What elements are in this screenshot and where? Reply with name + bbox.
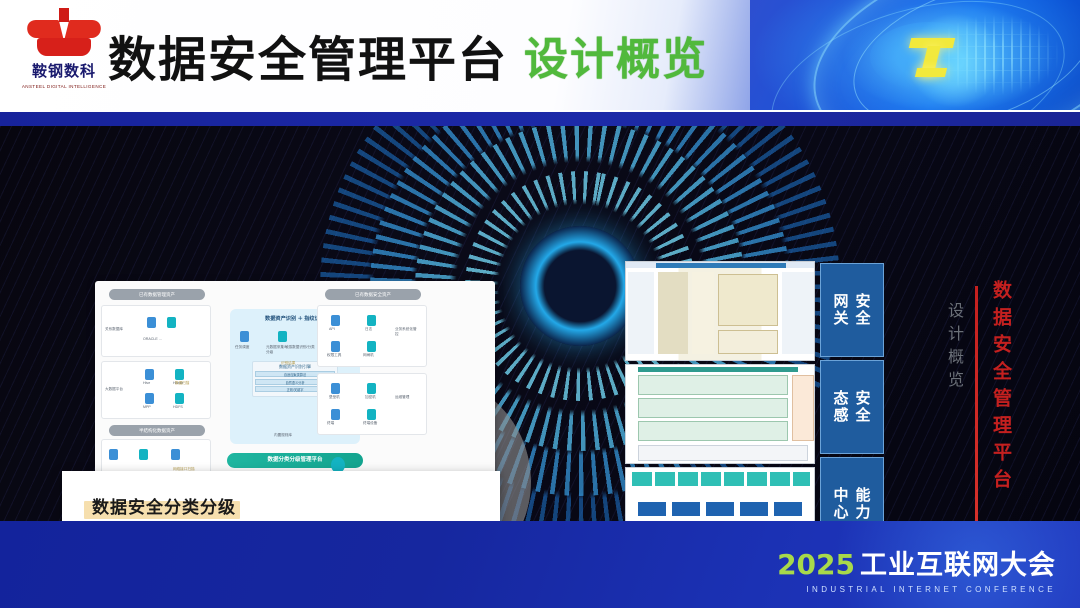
logo-name-cn: 鞍钢数科 <box>14 60 114 81</box>
logo-name-en: ANSTEEL DIGITAL INTELLIGENCE <box>18 84 110 90</box>
category-label-col-right: 能力 <box>853 487 874 521</box>
thumbnail-security-capability-map[interactable] <box>625 364 815 464</box>
diagram-source-2-label: 大数据平台 <box>105 387 123 392</box>
conference-name-cn: 工业互联网大会 <box>860 543 1056 582</box>
page-title: 数据安全管理平台 设计概览 <box>108 18 708 92</box>
red-vertical-rule <box>975 286 978 521</box>
thumbnail-architecture-overview[interactable] <box>625 261 815 361</box>
diagram-source-2-item-a: Hive <box>143 381 150 385</box>
diagram-source-1-items: ORACLE … <box>143 337 162 341</box>
diagram-right-item: 终端设备 <box>363 421 377 426</box>
category-label-col-right: 安全 <box>853 390 874 424</box>
category-situational-awareness[interactable]: 安全 态感 <box>820 360 884 454</box>
diagram-source-2-item-c: MPP <box>143 405 151 409</box>
diagram-right-item: 日志 <box>365 327 372 332</box>
diagram-right-top-caption: 业务系统化管控 <box>395 327 419 337</box>
diagram-source-2-item-d: HDFS <box>173 405 183 409</box>
description-heading: 数据安全分类分级 <box>92 493 236 518</box>
conference-year: 2025 <box>777 548 855 581</box>
header-t-logo-icon <box>908 38 956 76</box>
diagram-core-step-1: 任务调度 <box>235 345 249 350</box>
header-glow-blob <box>870 22 990 92</box>
diagram-right-item: 网闸机 <box>363 353 374 358</box>
anvil-icon <box>25 8 103 58</box>
slide-footer: 2025 工业互联网大会 INDUSTRIAL INTERNET CONFERE… <box>0 521 1080 608</box>
diagram-link-right: 识别结果 <box>281 361 295 366</box>
diagram-right-item: 加密机 <box>365 395 376 400</box>
diagram-source-3-label: 半结构化数据资产 <box>109 425 205 436</box>
diagram-right-item: 堡垒机 <box>329 395 340 400</box>
thumbnail-column <box>625 261 815 521</box>
category-label-col-left: 态感 <box>831 390 852 424</box>
category-label-col-left: 中心 <box>831 487 852 521</box>
page-title-main: 数据安全管理平台 <box>108 20 508 90</box>
category-capability-center[interactable]: 能力 中心 <box>820 457 884 521</box>
right-vertical-titles: 数据安全管理平台 设计概览 <box>940 276 1060 521</box>
company-logo: 鞍钢数科 ANSTEEL DIGITAL INTELLIGENCE <box>14 8 114 104</box>
page-title-sub: 设计概览 <box>524 23 708 87</box>
right-title-gray: 设计概览 <box>942 302 966 394</box>
diagram-link-left: 数据扫描 <box>175 381 189 386</box>
diagram-right-bottom-caption: 运维管理 <box>395 395 419 400</box>
conference-brand: 2025 工业互联网大会 INDUSTRIAL INTERNET CONFERE… <box>777 543 1056 594</box>
diagram-right-item: 权限工具 <box>327 353 341 358</box>
slide-header: 鞍钢数科 ANSTEEL DIGITAL INTELLIGENCE 数据安全管理… <box>0 0 1080 110</box>
right-title-red: 数据安全管理平台 <box>988 280 1015 496</box>
diagram-core-step-2: 元数据采集/敏感数据识别/分类分级 <box>266 345 316 355</box>
diagram-right-group-label: 已有数据安全资产 <box>325 289 421 300</box>
conference-name-en: INDUSTRIAL INTERNET CONFERENCE <box>777 585 1056 594</box>
slide-root: 鞍钢数科 ANSTEEL DIGITAL INTELLIGENCE 数据安全管理… <box>0 0 1080 608</box>
header-tech-graphic <box>750 0 1080 110</box>
category-security-gateway[interactable]: 安全 网关 <box>820 263 884 357</box>
diagram-right-item: API <box>329 327 335 331</box>
category-label-col-right: 安全 <box>853 293 874 327</box>
diagram-right-item: 终端 <box>327 421 334 426</box>
diagram-source-group-label: 已有数据管理资产 <box>109 289 205 300</box>
header-divider-bar <box>0 110 1080 126</box>
header-data-dots <box>930 15 1060 95</box>
slide-body: AI 已有数据管理资产 关系数据库 ORACLE … 大数据平台 Hive Hb… <box>0 126 1080 521</box>
category-label-col-left: 网关 <box>831 293 852 327</box>
main-architecture-diagram[interactable]: 已有数据管理资产 关系数据库 ORACLE … 大数据平台 Hive Hbase… <box>95 281 495 501</box>
diagram-source-1-label: 关系数据库 <box>105 327 123 332</box>
category-boxes: 安全 网关 安全 态感 能力 中心 服务 门户 <box>820 263 884 521</box>
description-card: 数据安全分类分级 通过AI算法（自适应聚类、自然语义分析等）探测关系型和非关系型… <box>62 471 500 521</box>
thumbnail-data-platform-topology[interactable] <box>625 467 815 521</box>
diagram-core-bottom-label: 内置规则库 <box>274 433 292 438</box>
